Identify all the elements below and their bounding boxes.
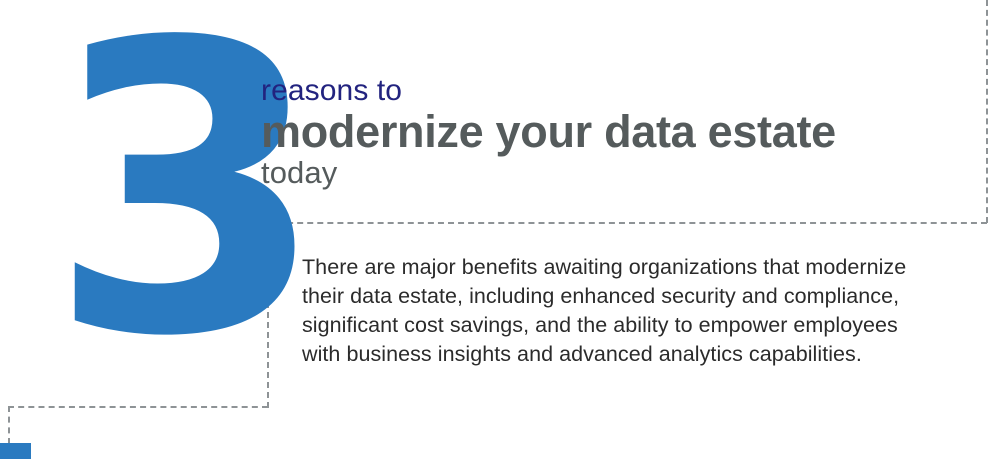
body-paragraph: There are major benefits awaiting organi…: [302, 253, 942, 369]
top-frame-right-dashed-line: [986, 0, 988, 223]
heading-block: reasons to modernize your data estate to…: [261, 74, 961, 191]
accent-square: [0, 443, 31, 459]
slide-canvas: 3 reasons to modernize your data estate …: [0, 0, 1000, 459]
eyebrow-text: reasons to: [261, 74, 961, 108]
page-title: modernize your data estate: [261, 107, 961, 157]
big-number: 3: [48, 0, 248, 392]
top-frame-bottom-dashed-line: [267, 222, 987, 224]
corner-frame-left-dashed-line: [8, 406, 10, 444]
subhead-text: today: [261, 155, 961, 191]
